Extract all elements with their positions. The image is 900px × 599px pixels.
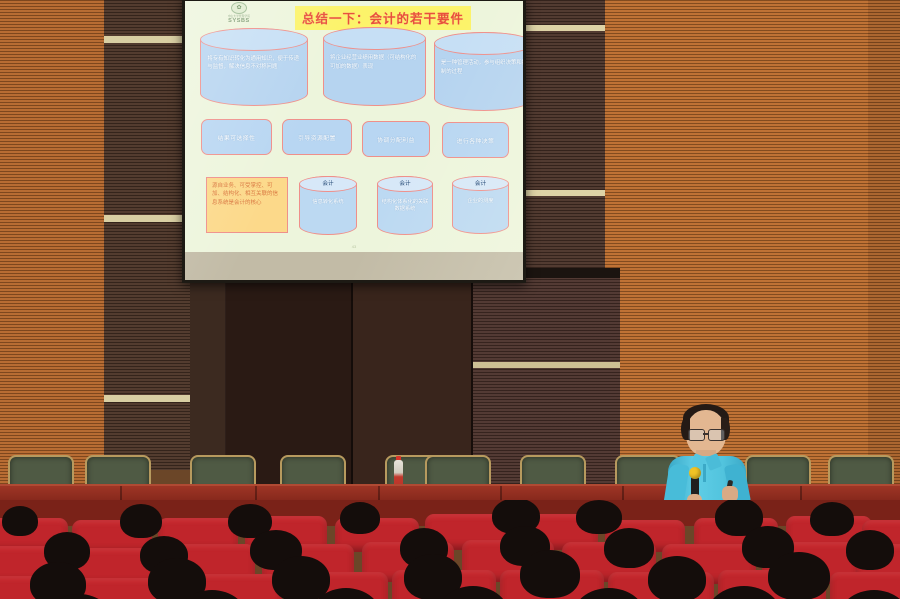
audience-head xyxy=(846,530,894,570)
slide-cylinder-top-3-text: 是一种管理活动，参与组织决策和控制的过程 xyxy=(441,59,523,76)
slide-cylinder-bottom-1-text: 信息转化系统 xyxy=(303,199,352,207)
audience-head xyxy=(340,502,380,534)
slide-pill-1: 结果可选择性 xyxy=(201,119,272,155)
audience-head xyxy=(576,500,622,534)
glasses-bridge xyxy=(703,433,709,435)
slide-cylinder-bottom-1: 会计 信息转化系统 xyxy=(299,176,357,235)
wall-panel-left-light xyxy=(0,0,104,490)
slide-cylinder-top-2: 将企业经营业绩用数据（可结构化的可加的数据）表现 xyxy=(323,27,426,106)
audience-head xyxy=(604,528,654,568)
lecture-hall-scene: ✿ 中山大学管理学院 SYSBS 总结一下：会计的若干要件 将专有知识转化为通用… xyxy=(0,0,900,599)
slide-pill-4: 进行各种决策 xyxy=(442,122,509,158)
slide-cylinder-bottom-3-cap: 会计 xyxy=(453,179,508,187)
university-logo: ✿ 中山大学管理学院 SYSBS xyxy=(193,2,285,24)
slide-cylinder-bottom-2-text: 结构化体系化的关联数据系统 xyxy=(381,199,429,215)
university-abbreviation: SYSBS xyxy=(228,18,250,24)
slide-cylinder-bottom-3-text: 企业的测度 xyxy=(456,198,504,206)
slide-callout-box: 源自业务、可受掌控、可加、结构化、相互关联的信息系统是会计的核心 xyxy=(206,177,288,233)
slide-cylinder-bottom-2-cap: 会计 xyxy=(378,179,432,187)
glasses-lens-left xyxy=(688,429,705,441)
projection-screen-frame: ✿ 中山大学管理学院 SYSBS 总结一下：会计的若干要件 将专有知识转化为通用… xyxy=(182,0,526,283)
audience-seating xyxy=(0,500,900,599)
slide-cylinder-bottom-2: 会计 结构化体系化的关联数据系统 xyxy=(377,176,433,235)
wall-panel-right-dark xyxy=(517,0,605,300)
presentation-slide: ✿ 中山大学管理学院 SYSBS 总结一下：会计的若干要件 将专有知识转化为通用… xyxy=(185,1,523,253)
wall-trim-band xyxy=(473,362,620,368)
shirt-placket xyxy=(703,464,706,482)
university-seal-icon: ✿ xyxy=(231,2,247,14)
slide-pill-3: 协调分配利益 xyxy=(362,121,430,157)
slide-cylinder-top-2-text: 将企业经营业绩用数据（可结构化的可加的数据）表现 xyxy=(330,54,419,71)
wall-trim-band xyxy=(517,190,605,196)
audience-head xyxy=(2,506,38,536)
audience-head xyxy=(768,552,830,599)
audience-head xyxy=(810,502,854,536)
wall-trim-band xyxy=(517,25,605,31)
audience-head xyxy=(272,556,330,599)
slide-page-number: 43 xyxy=(185,244,523,249)
slide-cylinder-top-1-text: 将专有知识转化为通用知识，便于传递与监督，解决信息不对称问题 xyxy=(207,55,300,72)
audience-head xyxy=(520,550,580,598)
slide-cylinder-top-3: 是一种管理活动，参与组织决策和控制的过程 xyxy=(434,32,523,111)
slide-cylinder-bottom-1-cap: 会计 xyxy=(300,179,356,187)
slide-cylinder-top-1: 将专有知识转化为通用知识，便于传递与监督，解决信息不对称问题 xyxy=(200,28,308,106)
slide-cylinder-bottom-3: 会计 企业的测度 xyxy=(452,176,509,234)
microphone-head-icon xyxy=(689,467,701,479)
projection-screen-surface: ✿ 中山大学管理学院 SYSBS 总结一下：会计的若干要件 将专有知识转化为通用… xyxy=(185,1,523,280)
audience-head xyxy=(120,504,162,538)
wall-panel-right-edge xyxy=(868,0,900,520)
projection-screen-unused-area xyxy=(185,252,523,280)
slide-pill-2: 引导资源配置 xyxy=(282,119,352,155)
audience-head xyxy=(648,556,706,599)
glasses-lens-right xyxy=(708,429,725,441)
